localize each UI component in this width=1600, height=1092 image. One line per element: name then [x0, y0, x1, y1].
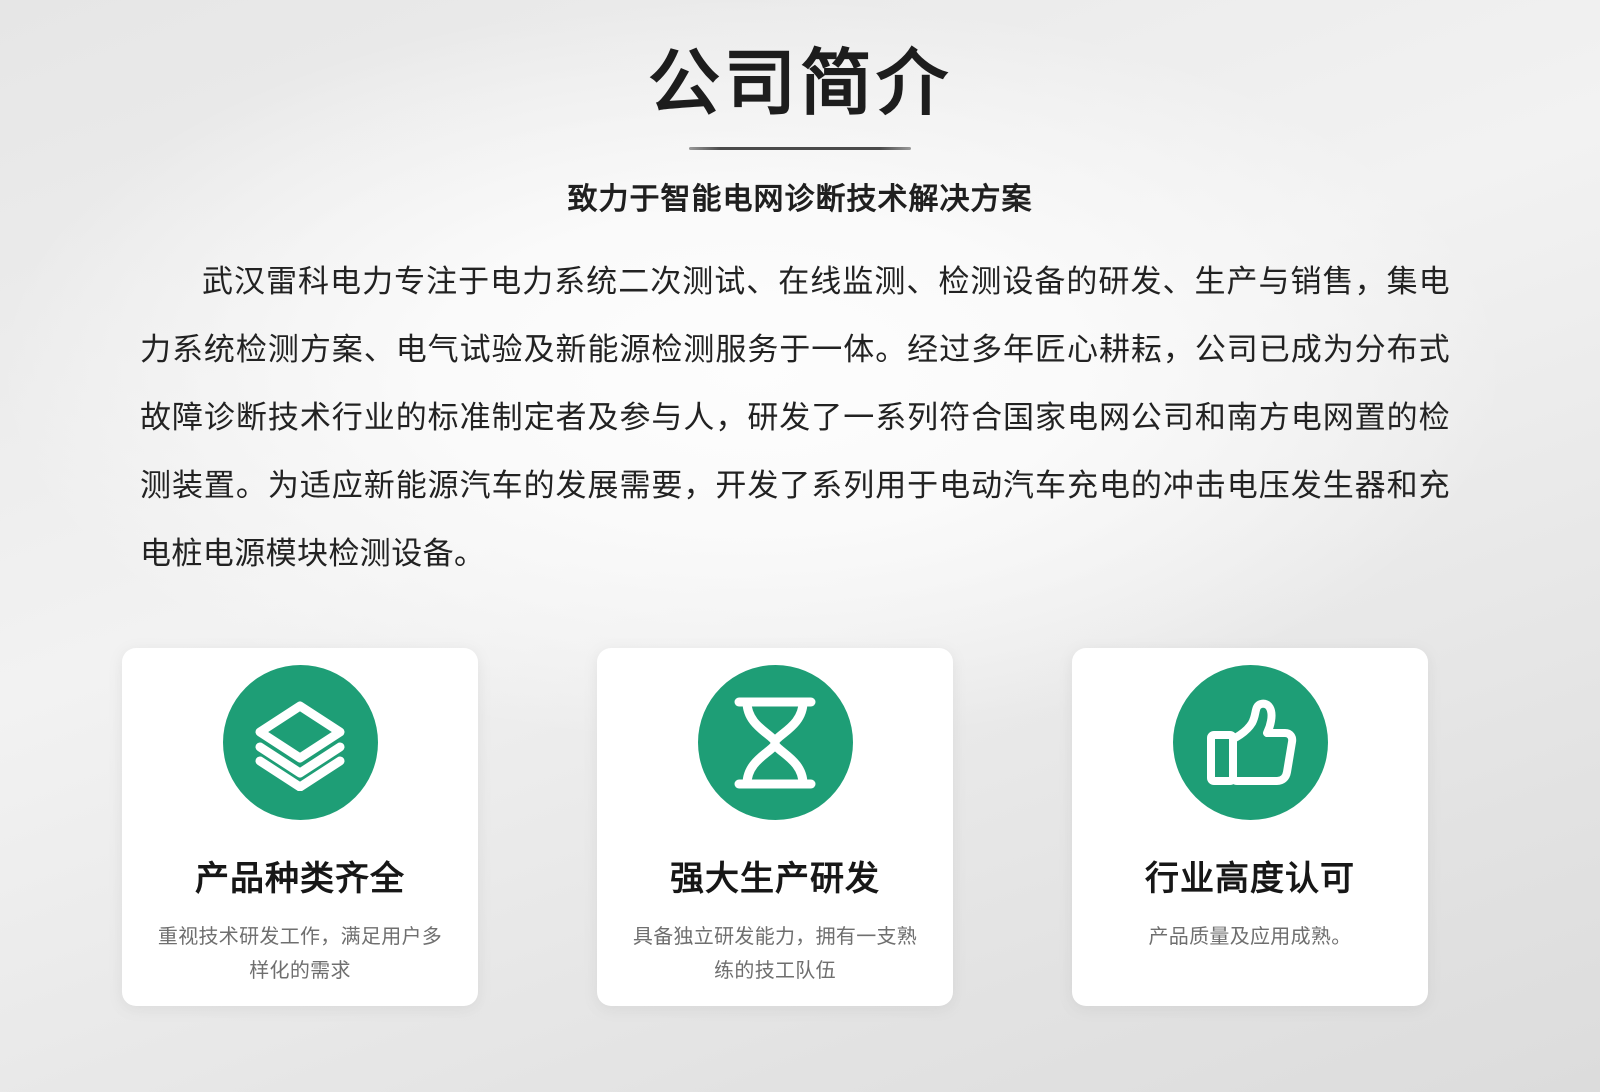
- feature-cards: 产品种类齐全 重视技术研发工作，满足用户多样化的需求 强大生产研: [122, 648, 1428, 1006]
- page-header: 公司简介 致力于智能电网诊断技术解决方案: [0, 0, 1600, 218]
- feature-card-industry-recognition[interactable]: 行业高度认可 产品质量及应用成熟。: [1072, 648, 1428, 1006]
- company-intro-paragraph: 武汉雷科电力专注于电力系统二次测试、在线监测、检测设备的研发、生产与销售，集电力…: [140, 248, 1450, 588]
- page-subtitle: 致力于智能电网诊断技术解决方案: [0, 150, 1600, 218]
- feature-card-title: 行业高度认可: [1072, 820, 1428, 900]
- layers-icon: [252, 695, 348, 791]
- company-profile-page: 公司简介 致力于智能电网诊断技术解决方案 武汉雷科电力专注于电力系统二次测试、在…: [0, 0, 1600, 1092]
- feature-card-rnd-capability[interactable]: 强大生产研发 具备独立研发能力，拥有一支熟练的技工队伍: [597, 648, 953, 1006]
- thumbs-up-icon: [1202, 695, 1298, 791]
- company-intro-section: 武汉雷科电力专注于电力系统二次测试、在线监测、检测设备的研发、生产与销售，集电力…: [140, 248, 1450, 588]
- feature-card-description: 重视技术研发工作，满足用户多样化的需求: [150, 900, 450, 988]
- icon-badge: [223, 665, 378, 820]
- feature-card-title: 产品种类齐全: [122, 820, 478, 900]
- feature-card-description: 具备独立研发能力，拥有一支熟练的技工队伍: [625, 900, 925, 988]
- page-title: 公司简介: [0, 0, 1600, 125]
- feature-card-title: 强大生产研发: [597, 820, 953, 900]
- icon-badge: [698, 665, 853, 820]
- hourglass-icon: [729, 695, 821, 791]
- icon-badge: [1173, 665, 1328, 820]
- feature-card-product-range[interactable]: 产品种类齐全 重视技术研发工作，满足用户多样化的需求: [122, 648, 478, 1006]
- feature-card-description: 产品质量及应用成熟。: [1100, 900, 1400, 954]
